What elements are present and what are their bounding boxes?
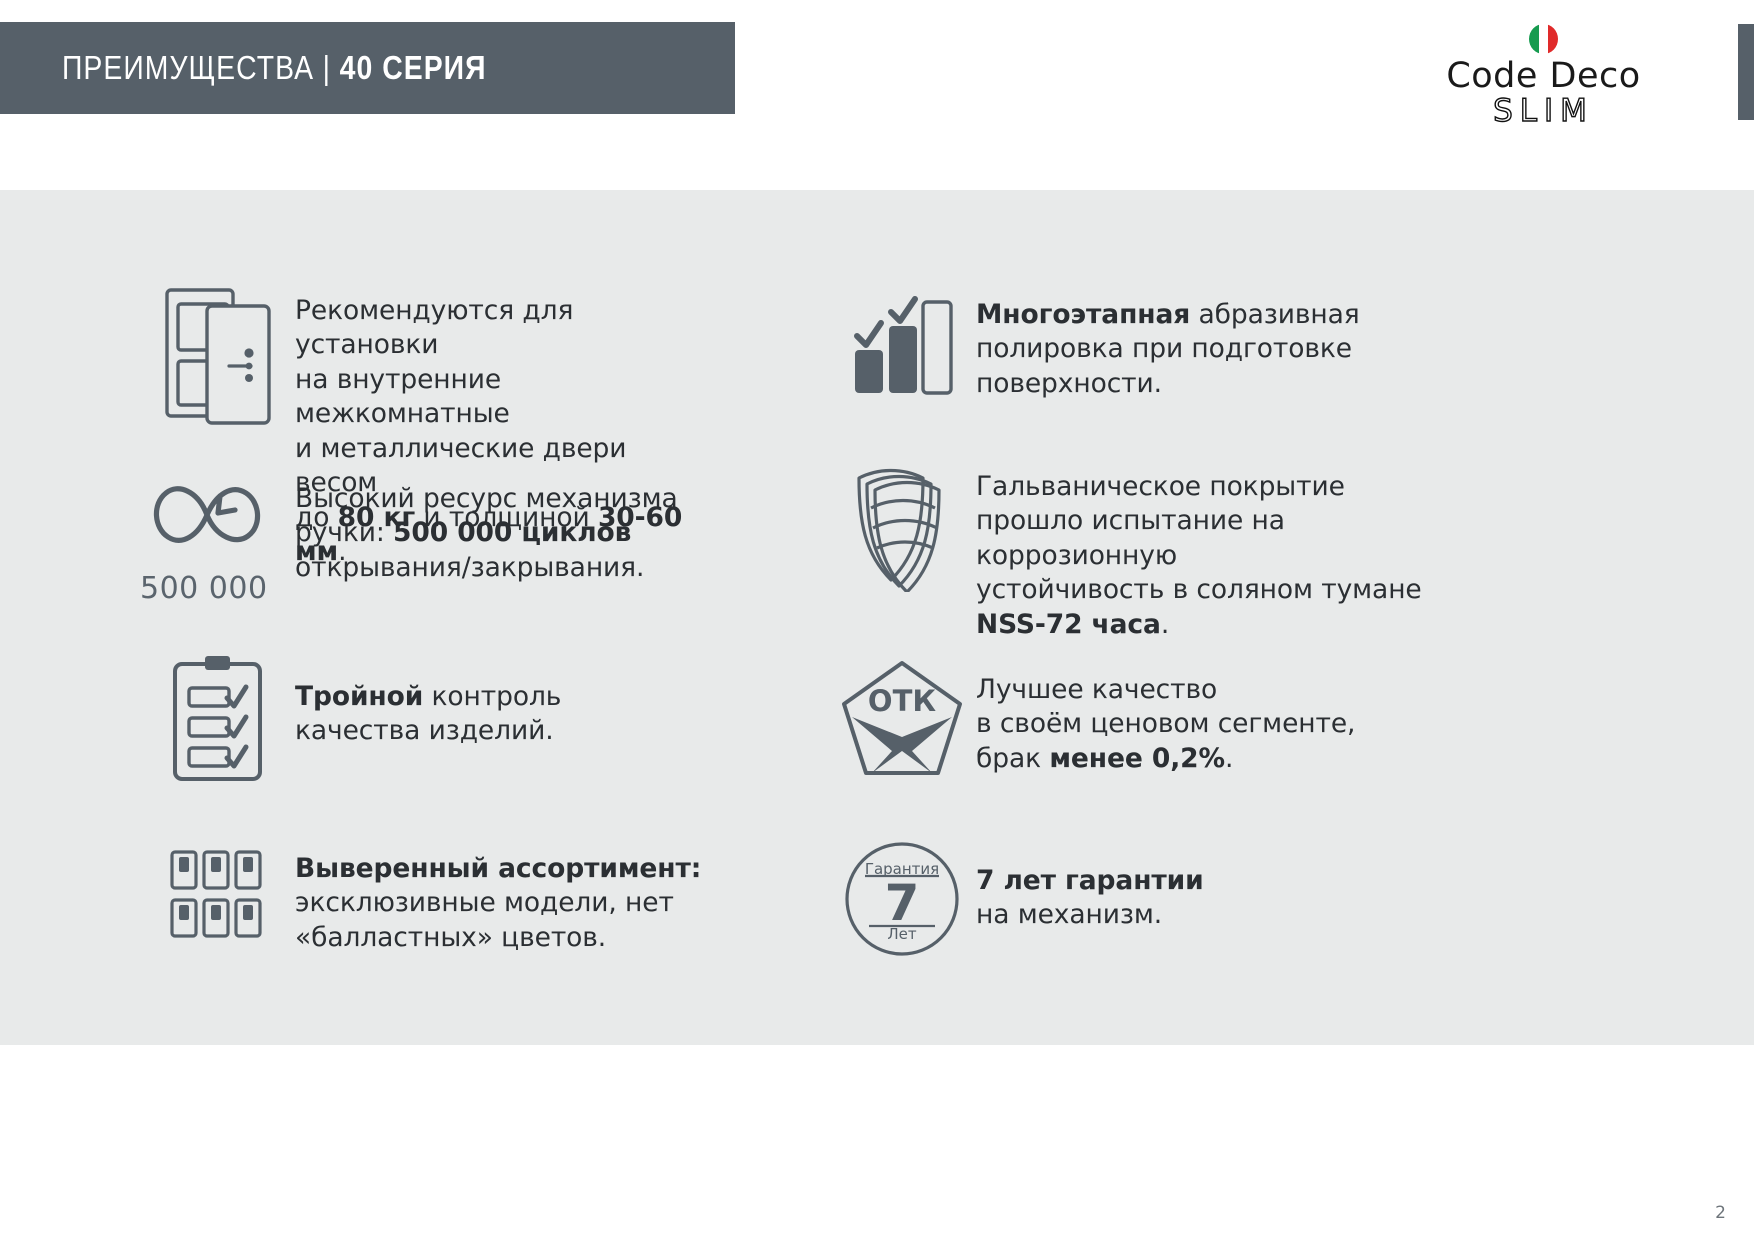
text-line: Тройной контроль [295, 680, 715, 714]
feature-quality-control-text: Тройной контролькачества изделий. [295, 652, 715, 749]
feature-cycles: 500 000 Высокий ресурс механизмаручки: 5… [140, 465, 715, 606]
otk-quality-mark-icon: ОТК [828, 655, 976, 783]
svg-text:ОТК: ОТК [868, 684, 936, 718]
feature-coating: Гальваническое покрытиепрошло испытание … [828, 462, 1476, 642]
header-bar: ПРЕИМУЩЕСТВА|40 СЕРИЯ [0, 22, 735, 114]
shield-layers-icon [828, 462, 976, 592]
page-title-light: ПРЕИМУЩЕСТВА [62, 49, 314, 86]
feature-warranty: Гарантия 7 Лет 7 лет гарантиина механизм… [828, 840, 1446, 958]
text-line: на механизм. [976, 898, 1446, 932]
logo-name: Code Deco [1441, 58, 1646, 95]
text-line: открывания/закрывания. [295, 551, 715, 585]
text-line: на внутренние межкомнатные [295, 363, 715, 432]
feature-coating-text: Гальваническое покрытиепрошло испытание … [976, 462, 1476, 642]
cycles-caption: 500 000 [140, 571, 268, 606]
warranty-7-years-icon: Гарантия 7 Лет [828, 840, 976, 958]
italian-flag-icon [1529, 24, 1558, 54]
feature-otk: ОТК Лучшее качествов своём ценовом сегме… [828, 655, 1446, 783]
right-edge-accent-bar [1738, 24, 1754, 120]
page-title-bold: 40 СЕРИЯ [340, 49, 487, 86]
clipboard-checklist-icon [140, 652, 295, 787]
feature-polishing: Многоэтапная абразивнаяполировка при под… [828, 288, 1446, 401]
title-separator: | [314, 49, 340, 86]
feature-otk-text: Лучшее качествов своём ценовом сегменте,… [976, 655, 1446, 776]
text-line: качества изделий. [295, 714, 715, 748]
text-line: 7 лет гарантии [976, 864, 1446, 898]
doors-icon [140, 278, 295, 427]
feature-cycles-text: Высокий ресурс механизмаручки: 500 000 ц… [295, 465, 715, 585]
feature-polishing-text: Многоэтапная абразивнаяполировка при под… [976, 288, 1446, 401]
page-number: 2 [1715, 1203, 1726, 1223]
features-panel: Рекомендуются для установкина внутренние… [0, 190, 1754, 1045]
page-title: ПРЕИМУЩЕСТВА|40 СЕРИЯ [62, 49, 487, 87]
text-line: поверхности. [976, 367, 1446, 401]
text-line: устойчивость в соляном тумане [976, 573, 1476, 607]
svg-text:Лет: Лет [887, 925, 917, 943]
text-line: полировка при подготовке [976, 332, 1446, 366]
text-line: Лучшее качество [976, 673, 1446, 707]
text-line: Рекомендуются для установки [295, 294, 715, 363]
feature-warranty-text: 7 лет гарантиина механизм. [976, 840, 1446, 933]
text-line: Выверенный ассортимент: [295, 852, 725, 886]
text-line: эксклюзивные модели, нет [295, 886, 725, 920]
logo-subname: SLIM [1441, 96, 1646, 127]
text-line: NSS-72 часа. [976, 608, 1476, 642]
infinity-cycles-icon: 500 000 [140, 465, 295, 606]
text-line: Высокий ресурс механизма [295, 482, 715, 516]
text-line: Многоэтапная абразивная [976, 298, 1446, 332]
feature-assortment-text: Выверенный ассортимент:эксклюзивные моде… [295, 840, 725, 955]
brand-logo: Code Deco SLIM [1441, 24, 1646, 127]
text-line: в своём ценовом сегменте, [976, 707, 1446, 741]
text-line: брак менее 0,2%. [976, 742, 1446, 776]
text-line: прошло испытание на коррозионную [976, 504, 1476, 573]
feature-assortment: Выверенный ассортимент:эксклюзивные моде… [140, 840, 725, 955]
text-line: ручки: 500 000 циклов [295, 516, 715, 550]
text-line: «балластных» цветов. [295, 921, 725, 955]
feature-quality-control: Тройной контролькачества изделий. [140, 652, 715, 787]
product-range-icon [140, 840, 295, 945]
polish-stages-bars-icon [828, 288, 976, 398]
svg-text:7: 7 [885, 874, 920, 932]
text-line: Гальваническое покрытие [976, 470, 1476, 504]
